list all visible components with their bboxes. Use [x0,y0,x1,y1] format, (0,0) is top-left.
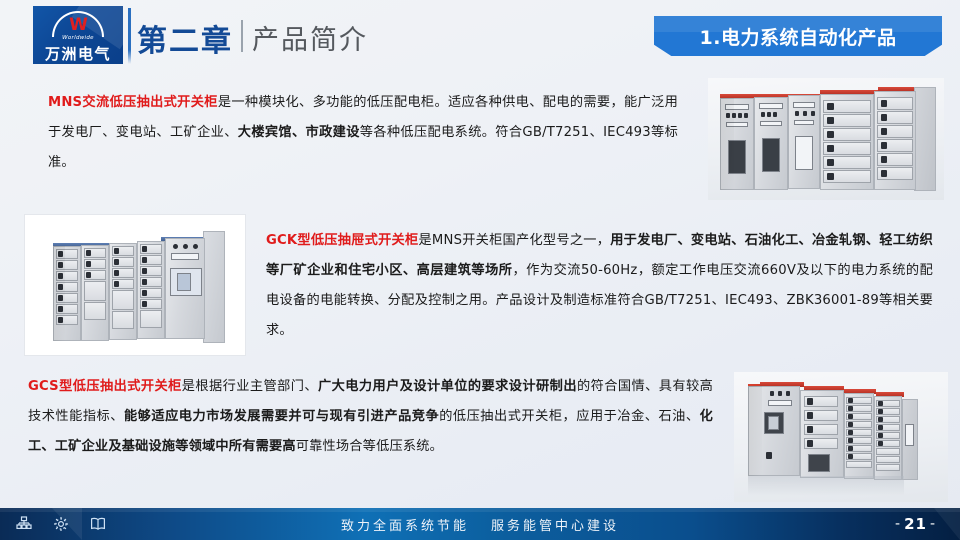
company-logo: W Worldwide 万洲电气 [33,6,123,64]
logo-company-name: 万洲电气 [33,43,123,64]
footer-slogan-left: 致力全面系统节能 [341,515,469,534]
footer-slogan-right: 服务能管中心建设 [491,515,619,534]
title-separator [241,20,243,52]
image-gcs-switchgear [734,372,948,502]
paragraph-mns-highlight: MNS交流低压抽出式开关柜 [48,95,218,110]
chapter-title: 第二章 [137,16,233,60]
slide-root: W Worldwide 万洲电气 第二章 产品简介 1.电力系统自动化产品 MN… [0,0,960,540]
paragraph-gcs-text-1: 是根据行业主管部门、 [182,379,318,394]
header-divider [128,8,131,64]
paragraph-gck-text-1: 是MNS开关柜国产化型号之一， [418,233,610,248]
image-gck-switchgear [24,214,246,356]
page-number: - 21 - [895,508,936,540]
page-number-value: 21 [904,515,927,533]
paragraph-gcs-highlight: GCS型低压抽出式开关柜 [28,379,182,394]
slide-footer: 致力全面系统节能 服务能管中心建设 - 21 - [0,508,960,540]
page-prefix: - [895,516,901,532]
paragraph-gcs-bold-1: 广大电力用户及设计单位的要求设计研制出 [318,379,577,394]
paragraph-gcs-text-3: 的低压抽出式开关柜，应用于冶金、石油、 [439,409,699,424]
image-mns-switchgear [708,78,944,200]
logo-letter: W [69,16,87,34]
footer-slogan: 致力全面系统节能 服务能管中心建设 [0,508,960,540]
footer-corner-shape [934,508,960,540]
paragraph-gck-highlight: GCK型低压抽屉式开关柜 [266,233,418,248]
section-badge: 1.电力系统自动化产品 [654,16,942,56]
chapter-subtitle: 产品简介 [252,18,368,57]
paragraph-gck: GCK型低压抽屉式开关柜是MNS开关柜国产化型号之一，用于发电厂、变电站、石油化… [266,226,933,346]
paragraph-mns-bold-1: 大楼宾馆、市政建设 [238,125,360,140]
slide-header: W Worldwide 万洲电气 第二章 产品简介 1.电力系统自动化产品 [0,0,960,72]
paragraph-gcs: GCS型低压抽出式开关柜是根据行业主管部门、广大电力用户及设计单位的要求设计研制… [28,372,713,462]
paragraph-gcs-text-4: 可靠性场合等低压系统。 [296,439,443,454]
logo-emblem-icon: W [52,11,104,36]
paragraph-mns: MNS交流低压抽出式开关柜是一种模块化、多功能的低压配电柜。适应各种供电、配电的… [48,88,678,178]
paragraph-gcs-bold-2: 能够适应电力市场发展需要并可与现有引进产品竞争 [124,409,439,424]
logo-tagline: Worldwide [33,35,123,41]
section-badge-label: 1.电力系统自动化产品 [654,16,942,56]
